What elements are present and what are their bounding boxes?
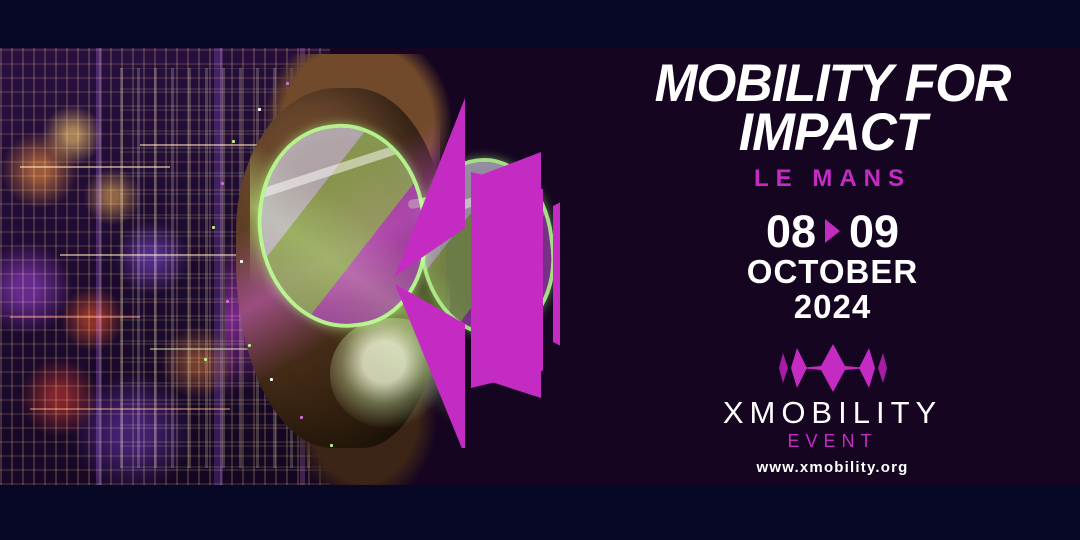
dispersion-particle	[232, 140, 235, 143]
brand-logo: XMOBILITY EVENT	[585, 342, 1080, 450]
headline-line-2: IMPACT	[592, 109, 1072, 158]
dispersion-particle	[286, 82, 289, 85]
date-day-start: 08	[766, 209, 816, 254]
page-title: MOBILITY FOR IMPACT	[592, 48, 1072, 158]
dispersion-particle	[270, 378, 273, 381]
dispersion-particle	[240, 260, 243, 263]
dispersion-particle	[204, 358, 207, 361]
xmobility-star-icon	[777, 342, 889, 394]
glitch-slab	[96, 48, 102, 485]
headline-subtitle: LE MANS	[585, 165, 1080, 193]
website-url[interactable]: www.xmobility.org	[585, 459, 1080, 476]
brand-name: XMOBILITY	[585, 397, 1080, 428]
dispersion-particle	[212, 226, 215, 229]
scan-streak	[10, 316, 140, 318]
scan-streak	[20, 166, 170, 168]
artwork-region	[0, 48, 560, 485]
dispersion-particle	[226, 300, 229, 303]
dispersion-particle	[258, 108, 261, 111]
date-day-end: 09	[849, 209, 899, 254]
date-year: 2024	[585, 289, 1080, 326]
brand-subtitle: EVENT	[585, 432, 1080, 450]
bottom-border-bar	[0, 485, 1080, 540]
event-info-panel: MOBILITY FOR IMPACT LE MANS 08 09 OCTOBE…	[585, 48, 1080, 485]
event-dates: 08 09	[585, 209, 1080, 254]
dispersion-particle	[300, 416, 303, 419]
top-border-bar	[0, 0, 1080, 48]
dispersion-particle	[248, 344, 251, 347]
event-banner: MOBILITY FOR IMPACT LE MANS 08 09 OCTOBE…	[0, 0, 1080, 540]
dispersion-particle	[221, 182, 224, 185]
magenta-x-chevron-icon	[395, 88, 560, 448]
date-month: OCTOBER	[585, 255, 1080, 290]
dispersion-particle	[330, 444, 333, 447]
banner-stage: MOBILITY FOR IMPACT LE MANS 08 09 OCTOBE…	[0, 48, 1080, 485]
arrow-right-icon	[825, 219, 840, 243]
